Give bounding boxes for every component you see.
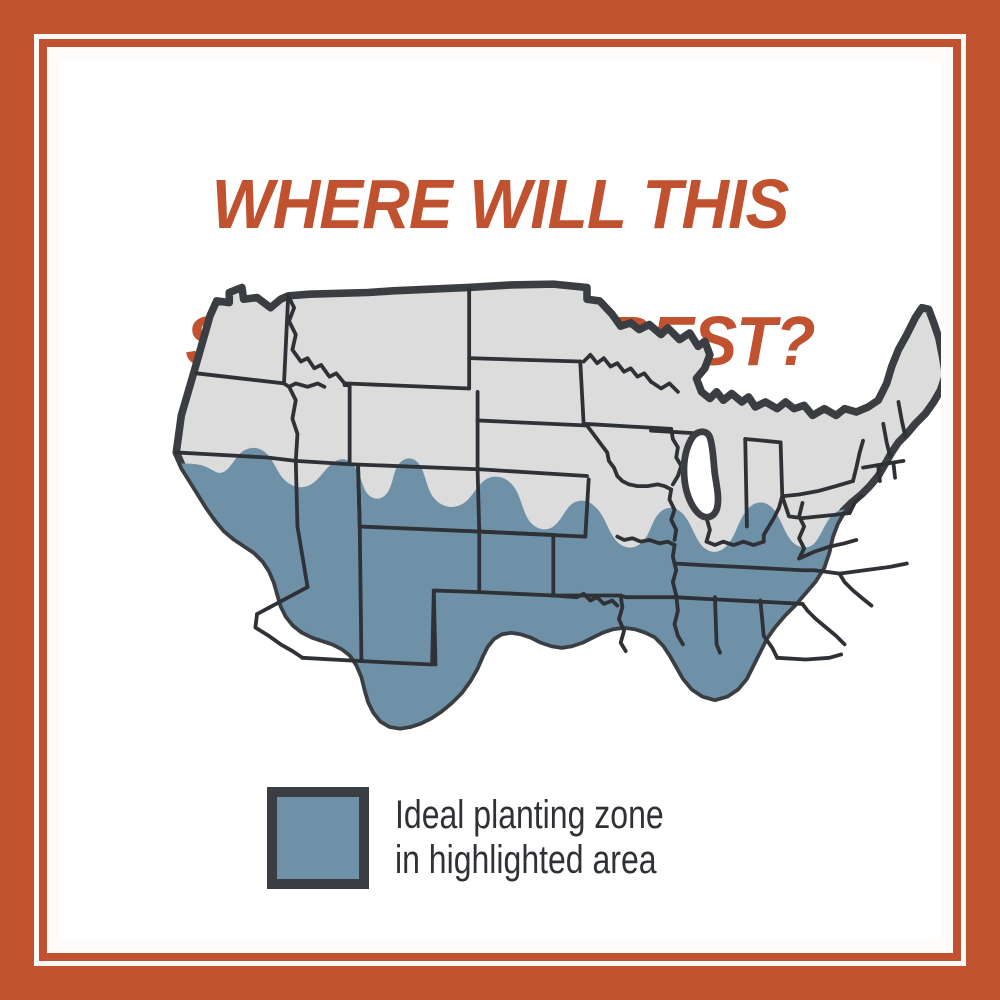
frame-mid-orange: WHERE WILL THIS SEED GROW BEST? <box>39 39 961 961</box>
poster-canvas: WHERE WILL THIS SEED GROW BEST? <box>59 59 941 941</box>
frame-outer-white: WHERE WILL THIS SEED GROW BEST? <box>34 34 966 966</box>
lake-michigan <box>684 432 718 517</box>
legend: Ideal planting zone in highlighted area <box>267 787 731 889</box>
legend-label: Ideal planting zone in highlighted area <box>395 793 664 883</box>
legend-line-2: in highlighted area <box>395 838 664 883</box>
poster: WHERE WILL THIS SEED GROW BEST? <box>0 0 1000 1000</box>
legend-line-1: Ideal planting zone <box>395 793 664 838</box>
legend-color-swatch <box>267 787 369 889</box>
us-map-svg <box>104 274 941 779</box>
great-lakes <box>684 432 718 517</box>
frame-inner-white: WHERE WILL THIS SEED GROW BEST? <box>47 47 953 953</box>
us-map-container <box>104 274 941 779</box>
title-line-1: WHERE WILL THIS <box>85 170 914 239</box>
